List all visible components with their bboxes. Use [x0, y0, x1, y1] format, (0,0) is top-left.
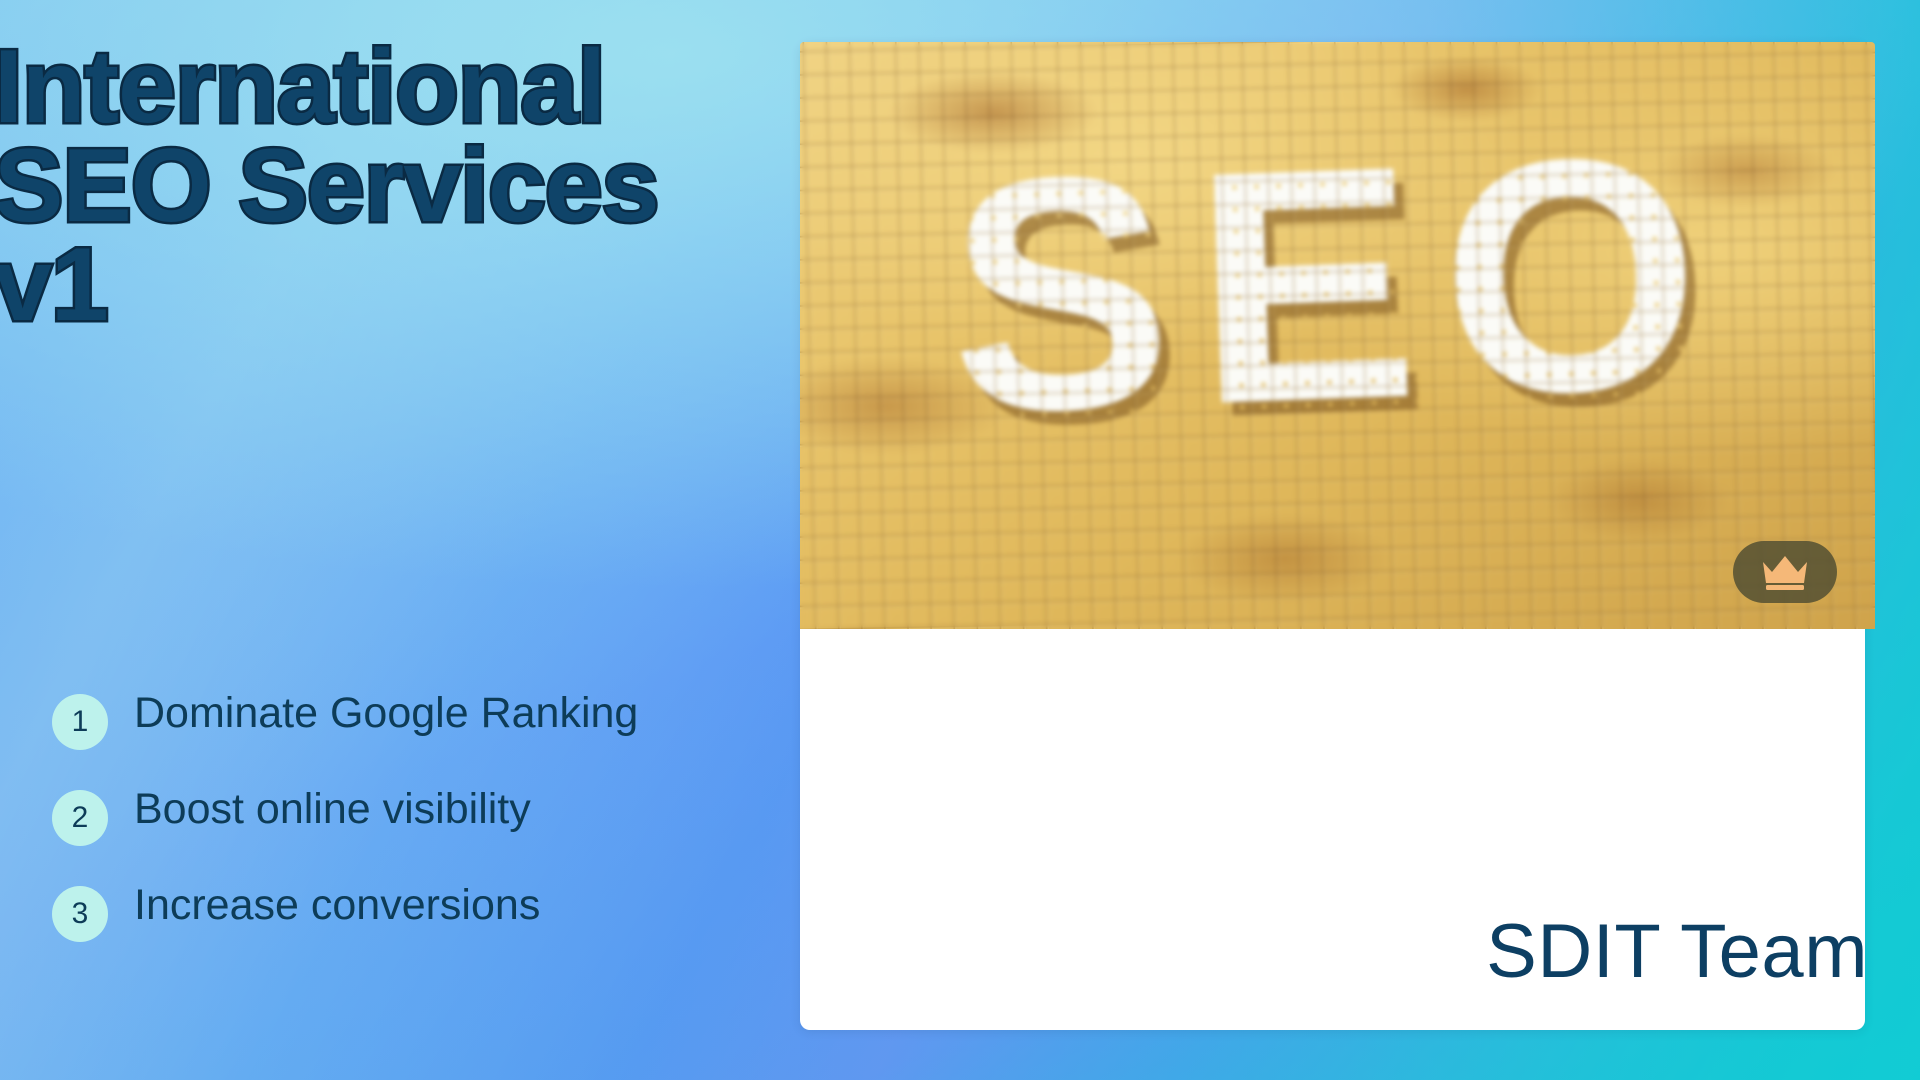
slide-title: International SEO Services v1: [0, 38, 824, 334]
crown-icon: [1759, 552, 1811, 592]
bullet-number-badge: 3: [52, 886, 108, 942]
author-signature: SDIT Team: [1486, 908, 1868, 995]
list-item: 3 Increase conversions: [52, 880, 692, 942]
bullet-number-badge: 2: [52, 790, 108, 846]
bullet-number-badge: 1: [52, 694, 108, 750]
list-item: 1 Dominate Google Ranking: [52, 688, 692, 750]
bullet-label: Dominate Google Ranking: [134, 688, 638, 739]
mosaic-shading: [800, 42, 1875, 629]
seo-mosaic-photo: SEO: [800, 42, 1875, 629]
slide-canvas: International SEO Services v1 1 Dominate…: [0, 0, 1920, 1080]
benefits-list: 1 Dominate Google Ranking 2 Boost online…: [52, 688, 692, 942]
list-item: 2 Boost online visibility: [52, 784, 692, 846]
bullet-label: Boost online visibility: [134, 784, 531, 835]
premium-watermark-badge: [1733, 541, 1837, 603]
bullet-label: Increase conversions: [134, 880, 540, 931]
